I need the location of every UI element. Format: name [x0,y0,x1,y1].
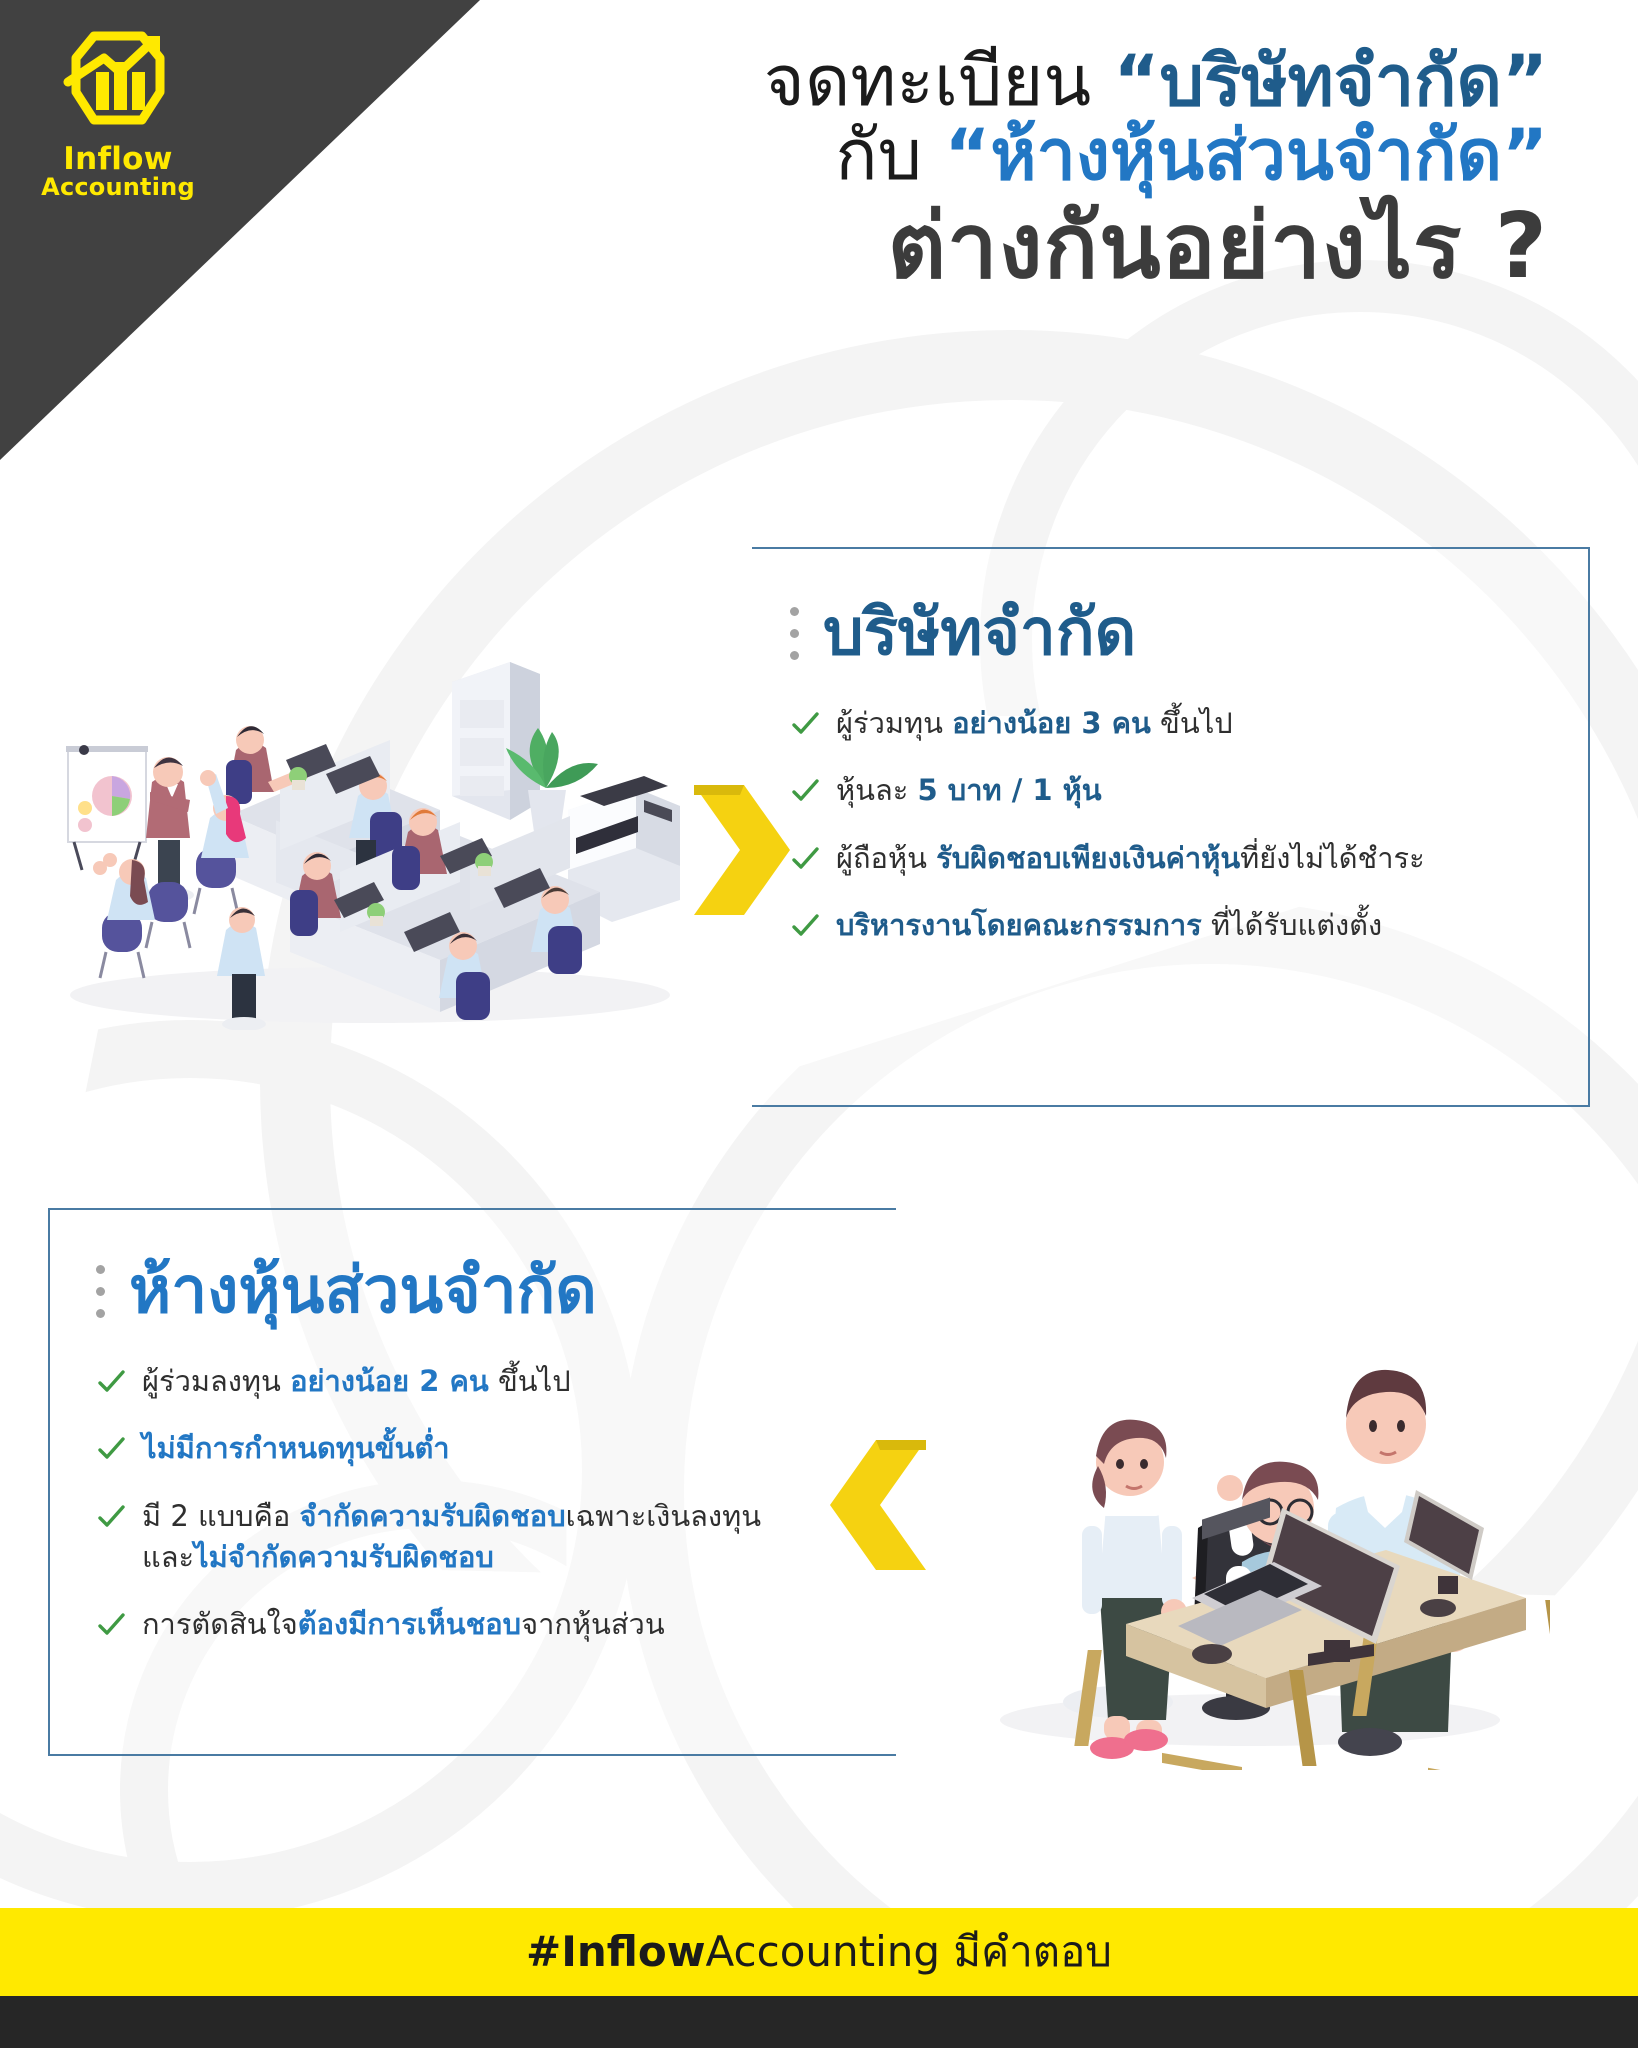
list-item-text: การตัดสินใจต้องมีการเห็นชอบจากหุ้นส่วน [142,1604,665,1645]
title-line-3: ต่างกันอย่างไร ? [360,197,1548,298]
office-discussion-isometric-illustration-icon [930,1250,1550,1770]
title-line-2: กับ “ห้างหุ้นส่วนจำกัด” [360,116,1548,194]
infographic-page: Inflow Accounting จดทะเบียน “บริษัทจำกัด… [0,0,1638,2048]
list-item: หุ้นละ 5 บาท / 1 หุ้น [790,770,1590,811]
list-item-text: ไม่มีการกำหนดทุนขั้นต่ำ [142,1428,450,1469]
check-icon [96,1434,126,1464]
list-item: ไม่มีการกำหนดทุนขั้นต่ำ [96,1428,896,1469]
title-line-2-plain: กับ [835,114,944,196]
card-limited-partnership-bullets: ผู้ร่วมลงทุน อย่างน้อย 2 คน ขึ้นไป ไม่มี… [96,1361,896,1645]
list-item-text: บริหารงานโดยคณะกรรมการ ที่ได้รับแต่งตั้ง [836,905,1382,946]
footer-tagline: #InflowAccounting มีคำตอบ [526,1919,1112,1985]
logo-name-line2: Accounting [41,175,195,199]
card-company-limited-header: บริษัทจำกัด [790,600,1590,667]
card-company-limited-content: บริษัทจำกัด ผู้ร่วมทุน อย่างน้อย 3 คน ขึ… [790,600,1590,972]
footer-suffix: มีคำตอบ [940,1927,1112,1976]
title-line-2-highlight: “ห้างหุ้นส่วนจำกัด” [944,114,1548,196]
footer-brand: Accounting [706,1927,941,1976]
list-item: บริหารงานโดยคณะกรรมการ ที่ได้รับแต่งตั้ง [790,905,1590,946]
inflow-chart-arrow-logo-icon [54,28,182,140]
list-item-text: ผู้ถือหุ้น รับผิดชอบเพียงเงินค่าหุ้นที่ย… [836,838,1425,879]
brand-logo: Inflow Accounting [38,28,198,199]
logo-name-line1: Inflow [41,144,195,175]
list-item: ผู้ถือหุ้น รับผิดชอบเพียงเงินค่าหุ้นที่ย… [790,838,1590,879]
card-company-limited-title: บริษัทจำกัด [823,600,1136,667]
title-line-1-highlight: “บริษัทจำกัด” [1114,40,1549,122]
title-line-1-plain: จดทะเบียน [764,40,1114,122]
list-item-text: หุ้นละ 5 บาท / 1 หุ้น [836,770,1102,811]
card-limited-partnership-header: ห้างหุ้นส่วนจำกัด [96,1258,896,1325]
three-dots-icon [96,1265,105,1318]
card-company-limited-bullets: ผู้ร่วมทุน อย่างน้อย 3 คน ขึ้นไป หุ้นละ … [790,703,1590,946]
footer-bar: #InflowAccounting มีคำตอบ [0,1908,1638,1996]
chevron-left-icon [830,1440,926,1570]
list-item: มี 2 แบบคือ จำกัดความรับผิดชอบเฉพาะเงินล… [96,1496,896,1578]
footer-hashtag: #Inflow [526,1927,706,1976]
check-icon [96,1502,126,1532]
check-icon [790,776,820,806]
list-item-text: มี 2 แบบคือ จำกัดความรับผิดชอบเฉพาะเงินล… [142,1496,761,1578]
check-icon [790,844,820,874]
page-title: จดทะเบียน “บริษัทจำกัด” กับ “ห้างหุ้นส่ว… [360,42,1590,298]
list-item: ผู้ร่วมลงทุน อย่างน้อย 2 คน ขึ้นไป [96,1361,896,1402]
card-limited-partnership-content: ห้างหุ้นส่วนจำกัด ผู้ร่วมลงทุน อย่างน้อย… [96,1258,896,1671]
list-item-text: ผู้ร่วมลงทุน อย่างน้อย 2 คน ขึ้นไป [142,1361,571,1402]
list-item: การตัดสินใจต้องมีการเห็นชอบจากหุ้นส่วน [96,1604,896,1645]
check-icon [790,911,820,941]
list-item: ผู้ร่วมทุน อย่างน้อย 3 คน ขึ้นไป [790,703,1590,744]
card-limited-partnership-title: ห้างหุ้นส่วนจำกัด [129,1258,597,1325]
chevron-right-icon [694,785,790,915]
three-dots-icon [790,607,799,660]
footer-dark-strip [0,1996,1638,2048]
check-icon [96,1610,126,1640]
title-line-1: จดทะเบียน “บริษัทจำกัด” [360,42,1548,120]
check-icon [96,1367,126,1397]
office-team-isometric-illustration-icon [40,600,700,1030]
list-item-text: ผู้ร่วมทุน อย่างน้อย 3 คน ขึ้นไป [836,703,1233,744]
check-icon [790,709,820,739]
